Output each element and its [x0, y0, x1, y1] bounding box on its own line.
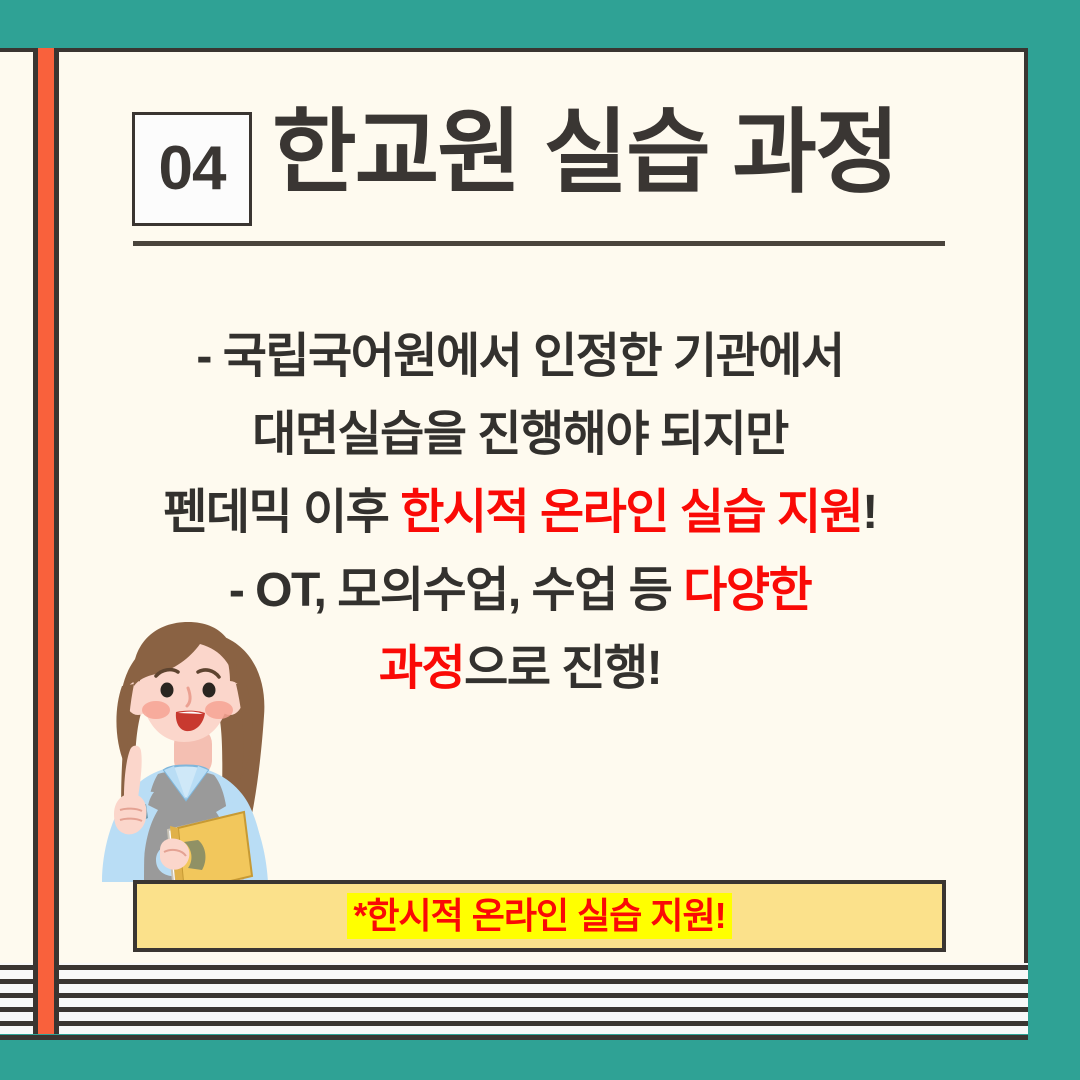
- body-line-1: - 국립국어원에서 인정한 기관에서: [60, 318, 980, 396]
- body-line-1-segment-1: - 국립국어원에서 인정한 기관에서: [196, 330, 843, 383]
- footer-note-text: *한시적 온라인 실습 지원!: [347, 893, 731, 938]
- title-divider: [133, 241, 945, 246]
- ruled-line: [0, 965, 1028, 970]
- poster-canvas: 04 한교원 실습 과정 - 국립국어원에서 인정한 기관에서대면실습을 진행해…: [0, 0, 1080, 1080]
- body-line-3-segment-2: 한시적 온라인 실습 지원: [400, 486, 862, 539]
- orange-spine-stripe: [33, 48, 59, 1034]
- body-line-5-segment-1: 과정: [379, 642, 464, 695]
- section-number-box: 04: [132, 112, 252, 226]
- ruled-lines-band: [0, 963, 1028, 1034]
- body-line-5-segment-2: 으로 진행!: [464, 642, 661, 695]
- ruled-line: [0, 1021, 1028, 1026]
- body-line-3-segment-1: 펜데믹 이후: [163, 486, 400, 539]
- body-line-2: 대면실습을 진행해야 되지만: [60, 396, 980, 474]
- page-title: 한교원 실습 과정: [272, 96, 898, 211]
- ruled-line: [0, 993, 1028, 998]
- body-line-4-segment-2: 다양한: [683, 564, 811, 617]
- ruled-line: [0, 1007, 1028, 1012]
- body-line-4-segment-1: - OT, 모의수업, 수업 등: [229, 564, 683, 617]
- ruled-line: [0, 1035, 1028, 1040]
- section-number: 04: [159, 138, 226, 200]
- body-line-3: 펜데믹 이후 한시적 온라인 실습 지원!: [60, 474, 980, 552]
- woman-pointing-up-holding-book-illustration: [72, 614, 312, 914]
- body-line-3-segment-3: !: [862, 486, 876, 539]
- footer-note-box: *한시적 온라인 실습 지원!: [133, 880, 946, 952]
- body-line-2-segment-1: 대면실습을 진행해야 되지만: [252, 408, 788, 461]
- ruled-line: [0, 979, 1028, 984]
